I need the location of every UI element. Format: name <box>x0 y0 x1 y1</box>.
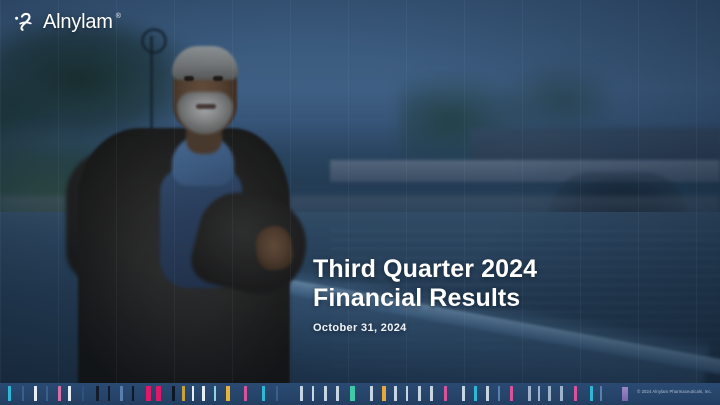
footer-stripe <box>132 386 134 401</box>
footer-stripe <box>68 386 71 401</box>
footer-stripe <box>510 386 513 401</box>
footer-stripe <box>430 386 433 401</box>
alnylam-wordmark: Alnylam <box>43 12 113 32</box>
footer-stripe <box>444 386 447 401</box>
footer-stripe <box>58 386 61 401</box>
background-photo <box>0 0 720 405</box>
footer-stripe <box>34 386 37 401</box>
footer-stripe <box>324 386 327 401</box>
footer-stripe <box>120 386 123 401</box>
footer-stripe <box>244 386 247 401</box>
footer-stripe <box>590 386 593 401</box>
footer-stripe <box>486 386 489 401</box>
brand-stripe-pattern <box>0 383 620 405</box>
footer-stripe <box>418 386 421 401</box>
footer-stripe <box>560 386 563 401</box>
footer-accent-mark <box>622 387 628 401</box>
footer-stripe <box>8 386 11 401</box>
footer-stripe <box>312 386 314 401</box>
footer-stripe <box>462 386 465 401</box>
presentation-slide: Alnylam ® Third Quarter 2024 Financial R… <box>0 0 720 405</box>
vertical-line-motif-overlay <box>0 0 720 405</box>
footer-stripe <box>22 386 24 401</box>
footer-stripe <box>498 386 500 401</box>
footer-stripe <box>192 386 194 401</box>
footer-stripe <box>600 386 602 401</box>
footer-stripe <box>548 386 551 401</box>
footer-stripe <box>156 386 161 401</box>
alnylam-swoosh-icon <box>14 10 40 34</box>
footer-stripe <box>538 386 540 401</box>
footer-stripe <box>370 386 373 401</box>
footer-stripe <box>336 386 339 401</box>
registered-trademark-symbol: ® <box>116 13 121 20</box>
footer-stripe <box>382 386 386 401</box>
title-block: Third Quarter 2024 Financial Results Oct… <box>313 255 703 334</box>
footer-stripe <box>574 386 577 401</box>
footer-stripe <box>82 386 84 401</box>
footer-stripe <box>406 386 408 401</box>
footer-stripe <box>300 386 303 401</box>
footer-stripe <box>96 386 99 401</box>
footer-stripe <box>262 386 265 401</box>
footer-stripe <box>146 386 151 401</box>
footer-stripe <box>214 386 216 401</box>
footer-stripe <box>276 386 278 401</box>
footer-stripe <box>394 386 397 401</box>
footer-stripe <box>108 386 110 401</box>
footer-stripe <box>202 386 205 401</box>
copyright-notice: © 2024 Alnylam Pharmaceuticals, Inc. <box>637 390 712 394</box>
footer-stripe <box>474 386 477 401</box>
footer-stripe <box>226 386 230 401</box>
footer-bar: © 2024 Alnylam Pharmaceuticals, Inc. <box>0 383 720 405</box>
footer-stripe <box>46 386 48 401</box>
title-line-2: Financial Results <box>313 284 703 313</box>
title-line-1: Third Quarter 2024 <box>313 255 703 284</box>
footer-stripe <box>182 386 185 401</box>
alnylam-logo: Alnylam ® <box>14 10 121 34</box>
footer-stripe <box>350 386 355 401</box>
footer-stripe <box>528 386 531 401</box>
presentation-date: October 31, 2024 <box>313 322 703 334</box>
footer-stripe <box>172 386 175 401</box>
